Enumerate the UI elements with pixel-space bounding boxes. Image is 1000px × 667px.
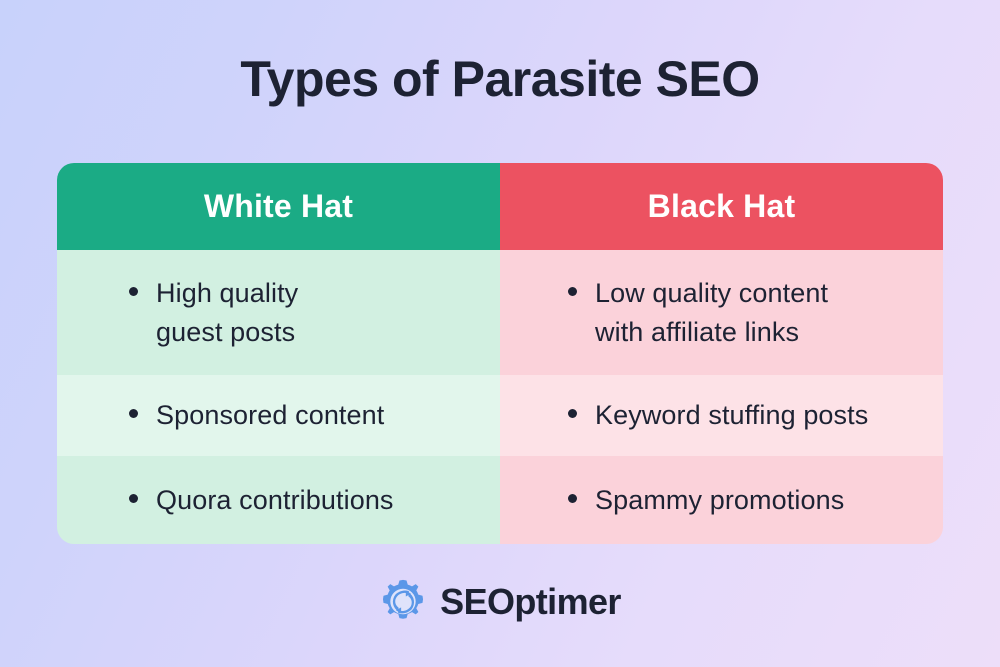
gear-refresh-icon: [379, 578, 427, 625]
cell-black-hat-1: Low quality content with affiliate links: [500, 250, 943, 375]
table-row: Quora contributions Spammy promotions: [57, 456, 943, 544]
list-item-label: Spammy promotions: [595, 481, 844, 519]
cell-white-hat-1: High quality guest posts: [57, 250, 500, 375]
list-item-label: Quora contributions: [156, 481, 394, 519]
column-header-black-hat-label: Black Hat: [648, 188, 796, 225]
cell-black-hat-3: Spammy promotions: [500, 456, 943, 544]
table-row: Sponsored content Keyword stuffing posts: [57, 375, 943, 456]
bullet-icon: [129, 287, 138, 296]
table-row: High quality guest posts Low quality con…: [57, 250, 943, 375]
page-title: Types of Parasite SEO: [240, 52, 759, 107]
bullet-icon: [568, 287, 577, 296]
bullet-icon: [568, 409, 577, 418]
list-item-label: Low quality content with affiliate links: [595, 274, 828, 351]
table-header-row: White Hat Black Hat: [57, 163, 943, 250]
brand-name: SEOptimer: [440, 584, 621, 620]
bullet-icon: [129, 494, 138, 503]
column-header-black-hat: Black Hat: [500, 163, 943, 250]
list-item-label: High quality guest posts: [156, 274, 298, 351]
list-item-label: Sponsored content: [156, 396, 384, 434]
table-body: High quality guest posts Low quality con…: [57, 250, 943, 544]
cell-black-hat-2: Keyword stuffing posts: [500, 375, 943, 456]
cell-white-hat-3: Quora contributions: [57, 456, 500, 544]
infographic-root: Types of Parasite SEO White Hat Black Ha…: [0, 0, 1000, 667]
column-header-white-hat-label: White Hat: [204, 188, 353, 225]
column-header-white-hat: White Hat: [57, 163, 500, 250]
list-item-label: Keyword stuffing posts: [595, 396, 868, 434]
bullet-icon: [129, 409, 138, 418]
brand-logo: SEOptimer: [0, 578, 1000, 625]
comparison-table: White Hat Black Hat High quality guest p…: [57, 163, 943, 544]
cell-white-hat-2: Sponsored content: [57, 375, 500, 456]
bullet-icon: [568, 494, 577, 503]
